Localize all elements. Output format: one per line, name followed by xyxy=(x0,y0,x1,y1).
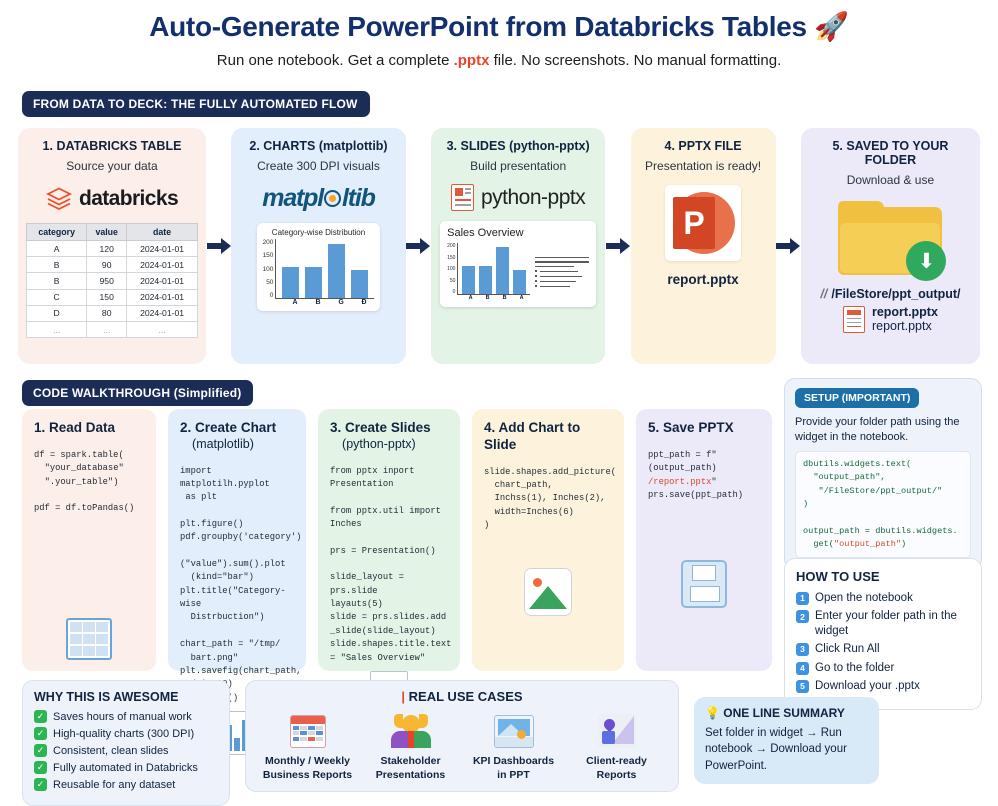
use-cases-panel: | REAL USE CASES Monthly / Weekly Busine… xyxy=(245,680,679,792)
flow-card-pptx-file[interactable]: 4. PPTX FILE Presentation is ready! P re… xyxy=(631,128,776,364)
saved-file-row[interactable]: report.pptx report.pptx xyxy=(843,305,938,333)
check-icon: ✓ xyxy=(34,710,47,723)
cell-value: 950 xyxy=(87,273,127,289)
use-case-kpi-dashboards[interactable]: KPI Dashboards in PPT xyxy=(464,711,564,782)
how-to-use-panel: HOW TO USE 1Open the notebook 2Enter you… xyxy=(784,558,982,710)
table-row: D802024-01-01 xyxy=(27,305,198,321)
use-case-label-a: Client-ready xyxy=(567,755,667,769)
flow-card-4-subtitle: Presentation is ready! xyxy=(645,159,761,173)
why-item: ✓Saves hours of manual work xyxy=(34,710,218,723)
pptx-doc-icon xyxy=(451,184,474,211)
why-awesome-list: ✓Saves hours of manual work ✓High-qualit… xyxy=(34,710,218,791)
code-card-4-code: slide.shapes.add_picture( chart_path, In… xyxy=(484,466,612,533)
chart-x-axis: A B G Ð xyxy=(263,299,375,306)
how-to-use-title: HOW TO USE xyxy=(796,569,970,584)
title-tick-icon: | xyxy=(401,689,405,704)
chart-preview-category-distribution: Category-wise Distribution 200 150 100 5… xyxy=(257,223,381,311)
flow-card-databricks-table[interactable]: 1. DATABRICKS TABLE Source your data dat… xyxy=(18,128,206,364)
use-case-label-a: KPI Dashboards xyxy=(464,755,564,769)
ytick: 200 xyxy=(447,243,455,249)
chart-bars xyxy=(275,239,374,299)
check-icon: ✓ xyxy=(34,744,47,757)
output-path: // /FileStore/ppt_output/ xyxy=(820,287,960,301)
why-awesome-panel: WHY THIS IS AWESOME ✓Saves hours of manu… xyxy=(22,680,230,806)
xtick: A xyxy=(287,299,304,306)
flow-strip: 1. DATABRICKS TABLE Source your data dat… xyxy=(18,128,980,364)
ytick: 100 xyxy=(447,266,455,272)
file-doc-icon xyxy=(843,306,865,333)
flow-card-5-subtitle: Download & use xyxy=(847,173,934,187)
use-case-label-a: Monthly / Weekly xyxy=(258,755,358,769)
use-case-art xyxy=(361,711,461,751)
code-card-4-footer xyxy=(484,562,612,660)
xtick: A xyxy=(515,295,528,301)
step-label: Click Run All xyxy=(815,642,880,656)
ytick: 0 xyxy=(263,292,274,299)
matplotlib-logo: matplltib xyxy=(262,184,374,213)
saved-file-name-secondary: report.pptx xyxy=(872,319,938,333)
page-subtitle: Run one notebook. Get a complete .pptx f… xyxy=(0,52,998,69)
databricks-logo: databricks xyxy=(46,186,178,212)
cell-date: 2024-01-01 xyxy=(127,257,198,273)
cell-date: ... xyxy=(127,321,198,337)
cell-value: 80 xyxy=(87,305,127,321)
ytick: 150 xyxy=(447,255,455,261)
use-case-label-a: Stakeholder xyxy=(361,755,461,769)
xtick: B xyxy=(310,299,327,306)
chart-pin-icon xyxy=(598,714,636,748)
setup-panel: SETUP (IMPORTANT) Provide your folder pa… xyxy=(784,378,982,570)
table-grid-icon xyxy=(66,618,112,660)
code-walkthrough-cards: 1. Read Data df = spark.table( "your_dat… xyxy=(22,409,772,671)
cell-date: 2024-01-01 xyxy=(127,289,198,305)
code-card-3-code: from pptx inport Presentation from pptx.… xyxy=(330,465,448,665)
python-pptx-wordmark: python-pptx xyxy=(481,186,585,210)
cell-value: 150 xyxy=(87,289,127,305)
col-category: category xyxy=(27,224,87,241)
why-item-label: Fully automated in Databricks xyxy=(53,762,198,774)
ytick: 100 xyxy=(263,266,274,273)
xtick: A xyxy=(464,295,477,301)
use-case-label-b: Presentations xyxy=(361,769,461,783)
chart-plot-area: 200 150 100 50 0 xyxy=(263,239,375,299)
table-row: C1502024-01-01 xyxy=(27,289,198,305)
use-case-label-b: in PPT xyxy=(464,769,564,783)
use-cases-title-text: REAL USE CASES xyxy=(409,689,523,704)
setup-code-block: dbutils.widgets.text( "output_path", "/F… xyxy=(795,451,971,558)
how-to-step: 2Enter your folder path in the widget xyxy=(796,609,970,638)
why-item-label: High-quality charts (300 DPI) xyxy=(53,728,194,740)
how-to-use-list: 1Open the notebook 2Enter your folder pa… xyxy=(796,591,970,693)
use-cases-title: | REAL USE CASES xyxy=(256,689,668,704)
folder-download-icon: ⬇ xyxy=(838,201,942,277)
step-number: 2 xyxy=(796,610,809,623)
cell-category: ... xyxy=(27,321,87,337)
code-card-create-chart[interactable]: 2. Create Chart (matplotlib) import matp… xyxy=(168,409,306,671)
table-row: A1202024-01-01 xyxy=(27,241,198,257)
use-cases-row: Monthly / Weekly Business Reports Stakeh… xyxy=(256,711,668,782)
check-icon: ✓ xyxy=(34,761,47,774)
table-row: B9502024-01-01 xyxy=(27,273,198,289)
databricks-stack-icon xyxy=(46,186,72,212)
flow-section-badge: FROM DATA TO DECK: THE FULLY AUTOMATED F… xyxy=(22,91,370,117)
flow-card-3-subtitle: Build presentation xyxy=(470,159,566,173)
code-card-3-title: 3. Create Slides (python-pptx) xyxy=(330,420,448,453)
ytick: 200 xyxy=(263,239,274,246)
cell-date: 2024-01-01 xyxy=(127,273,198,289)
setup-code-a: dbutils.widgets.text( "output_path", "/F… xyxy=(803,459,958,549)
matplotlib-circle-icon xyxy=(324,190,341,207)
save-disk-icon xyxy=(681,560,727,608)
setup-code-b: ) xyxy=(901,539,906,549)
bar xyxy=(328,244,345,298)
flow-card-4-title: 4. PPTX FILE xyxy=(665,139,742,153)
cell-date: 2024-01-01 xyxy=(127,241,198,257)
code-5-line-a: ppt_path = f"(output_path) xyxy=(648,450,717,473)
use-case-art xyxy=(567,711,667,751)
slide-chart: 200 150 100 50 0 xyxy=(447,243,530,301)
path-text: /FileStore/ppt_output/ xyxy=(831,287,960,301)
code-card-5-title: 5. Save PPTX xyxy=(648,420,760,437)
slide-chart-x-axis: A B B A xyxy=(447,295,530,301)
slide-preview-sales-overview: Sales Overview 200 150 100 50 0 xyxy=(440,221,596,307)
why-item: ✓Consistent, clean slides xyxy=(34,744,218,757)
flow-arrow-1 xyxy=(206,128,231,364)
page-header: Auto-Generate PowerPoint from Databricks… xyxy=(0,0,998,69)
flow-card-saved-folder[interactable]: 5. SAVED TO YOUR FOLDER Download & use ⬇… xyxy=(801,128,980,364)
step-number: 5 xyxy=(796,680,809,693)
chart-y-axis: 200 150 100 50 0 xyxy=(263,239,276,299)
setup-description: Provide your folder path using the widge… xyxy=(795,415,971,444)
cell-category: D xyxy=(27,305,87,321)
flow-card-slides[interactable]: 3. SLIDES (python-pptx) Build presentati… xyxy=(431,128,605,364)
why-item-label: Saves hours of manual work xyxy=(53,711,192,723)
why-item: ✓Reusable for any dataset xyxy=(34,778,218,791)
code-5-line-b: /report.pptx xyxy=(648,477,711,487)
xtick: Ð xyxy=(356,299,373,306)
people-icon xyxy=(390,714,432,748)
flow-card-2-subtitle: Create 300 DPI visuals xyxy=(257,159,380,173)
use-case-label-b: Reports xyxy=(567,769,667,783)
flow-card-3-title: 3. SLIDES (python-pptx) xyxy=(447,139,590,153)
bar xyxy=(282,267,299,298)
why-item-label: Consistent, clean slides xyxy=(53,745,169,757)
subtitle-accent: .pptx xyxy=(454,52,490,69)
flow-card-1-title: 1. DATABRICKS TABLE xyxy=(43,139,182,153)
code-card-1-code: df = spark.table( "your_database" ".your… xyxy=(34,449,144,516)
flow-card-5-title: 5. SAVED TO YOUR FOLDER xyxy=(809,139,972,167)
code-card-read-data[interactable]: 1. Read Data df = spark.table( "your_dat… xyxy=(22,409,156,671)
ytick: 150 xyxy=(263,252,274,259)
monitor-image-icon xyxy=(494,715,534,748)
cell-category: B xyxy=(27,273,87,289)
cell-value: ... xyxy=(87,321,127,337)
subtitle-part-b: file. No screenshots. No manual formatti… xyxy=(489,52,781,69)
flow-arrow-2 xyxy=(406,128,431,364)
code-card-5-footer xyxy=(648,554,760,660)
slide-body: 200 150 100 50 0 xyxy=(447,243,589,301)
saved-file-name-primary: report.pptx xyxy=(872,305,938,319)
databricks-wordmark: databricks xyxy=(79,187,178,211)
code-card-4-title: 4. Add Chart to Slide xyxy=(484,420,612,454)
subtitle-part-a: Run one notebook. Get a complete xyxy=(217,52,454,69)
flow-card-charts[interactable]: 2. CHARTS (matplottib) Create 300 DPI vi… xyxy=(231,128,405,364)
slide-chart-y-axis: 200 150 100 50 0 xyxy=(447,243,457,295)
step-number: 3 xyxy=(796,643,809,656)
why-item-label: Reusable for any dataset xyxy=(53,779,175,791)
chart-title: Category-wise Distribution xyxy=(263,228,375,237)
path-slash-icon: // xyxy=(820,287,827,301)
table-header-row: category value date xyxy=(27,224,198,241)
image-icon xyxy=(524,568,572,616)
summary-title: 💡 ONE LINE SUMMARY xyxy=(705,706,868,720)
use-case-label-b: Business Reports xyxy=(258,769,358,783)
use-case-art xyxy=(258,711,358,751)
calendar-icon xyxy=(290,715,326,748)
why-item: ✓Fully automated in Databricks xyxy=(34,761,218,774)
flow-arrow-4 xyxy=(776,128,801,364)
code-card-1-title: 1. Read Data xyxy=(34,420,144,437)
code-card-2-code: import matplotilh.pyplot as plt plt.figu… xyxy=(180,465,294,705)
flow-card-2-title: 2. CHARTS (matplottib) xyxy=(249,139,387,153)
xtick: G xyxy=(333,299,350,306)
step-label: Go to the folder xyxy=(815,661,894,675)
col-value: value xyxy=(87,224,127,241)
check-icon: ✓ xyxy=(34,727,47,740)
how-to-step: 1Open the notebook xyxy=(796,591,970,605)
step-label: Enter your folder path in the widget xyxy=(815,609,970,638)
one-line-summary-panel: 💡 ONE LINE SUMMARY Set folder in widget … xyxy=(694,697,879,784)
code-card-2-title-main: 2. Create Chart xyxy=(180,420,276,435)
how-to-step: 5Download your .pptx xyxy=(796,679,970,693)
code-card-create-slides[interactable]: 3. Create Slides (python-pptx) from pptx… xyxy=(318,409,460,671)
slide-chart-bars xyxy=(457,243,530,295)
code-card-3-subtitle: (python-pptx) xyxy=(330,437,448,453)
slide-text-lines xyxy=(535,243,589,301)
step-number: 4 xyxy=(796,662,809,675)
check-icon: ✓ xyxy=(34,778,47,791)
code-section-badge-row: CODE WALKTHROUGH (Simplified) xyxy=(22,380,253,406)
bar xyxy=(305,267,322,298)
pptx-file-name: report.pptx xyxy=(667,272,738,287)
ytick: 50 xyxy=(447,278,455,284)
step-label: Open the notebook xyxy=(815,591,913,605)
setup-code-red: "output_path" xyxy=(834,539,901,549)
bar xyxy=(351,270,368,298)
cell-value: 120 xyxy=(87,241,127,257)
step-number: 1 xyxy=(796,592,809,605)
slide-title: Sales Overview xyxy=(447,227,589,239)
use-case-business-reports[interactable]: Monthly / Weekly Business Reports xyxy=(258,711,358,782)
ytick: 0 xyxy=(447,289,455,295)
flow-arrow-3 xyxy=(605,128,630,364)
flow-section-badge-row: FROM DATA TO DECK: THE FULLY AUTOMATED F… xyxy=(4,91,370,117)
table-row: B902024-01-01 xyxy=(27,257,198,273)
code-card-2-subtitle: (matplotlib) xyxy=(180,437,294,453)
powerpoint-icon: P xyxy=(665,185,741,261)
use-case-stakeholder-presentations[interactable]: Stakeholder Presentations xyxy=(361,711,461,782)
setup-badge: SETUP (IMPORTANT) xyxy=(795,388,919,408)
how-to-step: 3Click Run All xyxy=(796,642,970,656)
code-card-2-title: 2. Create Chart (matplotlib) xyxy=(180,420,294,453)
code-walkthrough-badge: CODE WALKTHROUGH (Simplified) xyxy=(22,380,253,406)
ytick: 50 xyxy=(263,279,274,286)
code-card-3-title-main: 3. Create Slides xyxy=(330,420,431,435)
col-date: date xyxy=(127,224,198,241)
flow-card-1-subtitle: Source your data xyxy=(66,159,157,173)
table-row: ......... xyxy=(27,321,198,337)
xtick: B xyxy=(481,295,494,301)
why-awesome-title: WHY THIS IS AWESOME xyxy=(34,690,218,704)
why-item: ✓High-quality charts (300 DPI) xyxy=(34,727,218,740)
cell-category: A xyxy=(27,241,87,257)
code-card-1-footer xyxy=(34,612,144,660)
summary-text: Set folder in widget → Run notebook → Do… xyxy=(705,725,868,774)
code-card-save-pptx[interactable]: 5. Save PPTX ppt_path = f"(output_path) … xyxy=(636,409,772,671)
code-card-add-chart[interactable]: 4. Add Chart to Slide slide.shapes.add_p… xyxy=(472,409,624,671)
cell-date: 2024-01-01 xyxy=(127,305,198,321)
cell-category: C xyxy=(27,289,87,305)
use-case-client-ready-reports[interactable]: Client-ready Reports xyxy=(567,711,667,782)
page-title: Auto-Generate PowerPoint from Databricks… xyxy=(0,10,998,43)
how-to-step: 4Go to the folder xyxy=(796,661,970,675)
xtick: B xyxy=(498,295,511,301)
cell-value: 90 xyxy=(87,257,127,273)
download-badge-icon: ⬇ xyxy=(906,241,946,281)
sample-data-table: category value date A1202024-01-01 B9020… xyxy=(26,223,198,338)
python-pptx-logo: python-pptx xyxy=(451,184,585,211)
code-card-5-code: ppt_path = f"(output_path) /report.pptx"… xyxy=(648,449,760,502)
use-case-art xyxy=(464,711,564,751)
cell-category: B xyxy=(27,257,87,273)
step-label: Download your .pptx xyxy=(815,679,920,693)
